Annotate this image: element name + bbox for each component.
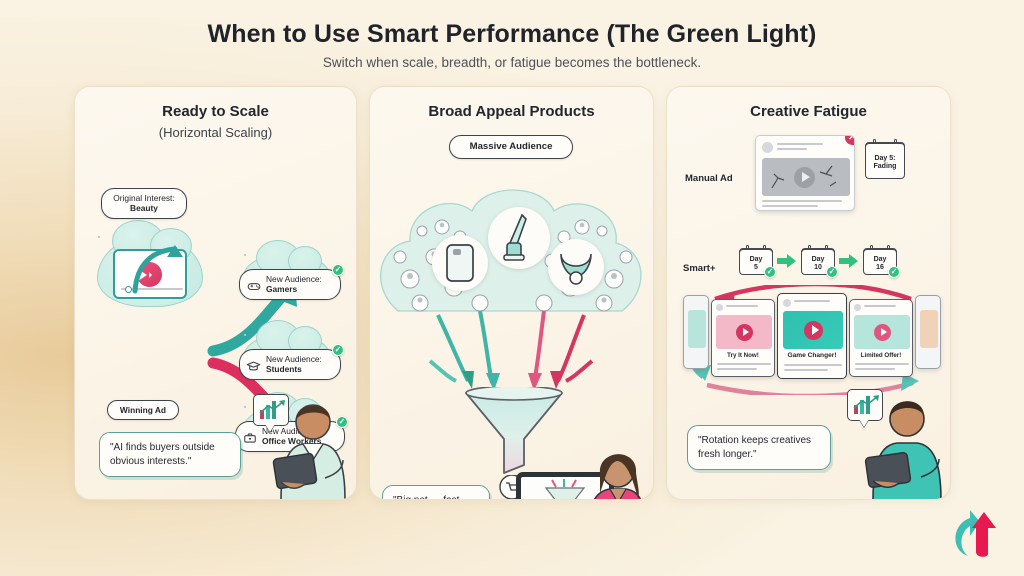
rotation-card-try-it-now[interactable]: Try It Now! (711, 299, 775, 377)
check-icon: ✓ (332, 344, 344, 356)
graduation-cap-icon (246, 359, 261, 374)
manual-ad-label: Manual Ad (685, 173, 733, 184)
panel3-heading: Creative Fatigue (667, 103, 950, 120)
check-icon: ✓ (826, 266, 838, 278)
panel2-heading: Broad Appeal Products (370, 103, 653, 120)
rotation-card-2-caption: Game Changer! (778, 352, 846, 359)
neck-massager-icon (557, 248, 595, 286)
massive-audience-text: Massive Audience (470, 141, 553, 152)
winning-ad-caption-text: Winning Ad (120, 405, 166, 415)
manual-ad-calendar: Day 5: Fading (865, 139, 905, 179)
audience-1-value: Gamers (266, 284, 331, 294)
rotation-card-limited-offer[interactable]: Limited Offer! (849, 299, 913, 377)
chart-bubble (847, 389, 883, 421)
original-interest-label: Original Interest: (113, 193, 174, 203)
page-subtitle: Switch when scale, breadth, or fatigue b… (0, 55, 1024, 70)
panel-ready-to-scale: Ready to Scale (Horizontal Scaling) Orig… (74, 86, 357, 500)
smart-cal-2-line1: Day (802, 256, 834, 264)
massive-audience-pill: Massive Audience (449, 135, 573, 159)
panel1-quote: "AI finds buyers outside obvious interes… (99, 432, 241, 477)
manual-ad-card: ✕ (755, 135, 855, 211)
rotation-card-right-edge (915, 295, 941, 369)
page-title: When to Use Smart Performance (The Green… (0, 20, 1024, 49)
rotation-card-left-edge (683, 295, 709, 369)
chart-bubble (253, 394, 289, 426)
check-icon: ✓ (332, 264, 344, 276)
panel-creative-fatigue: Creative Fatigue Manual Ad ✕ (666, 86, 951, 500)
check-icon: ✓ (764, 266, 776, 278)
smart-calendar-day5: Day 5 ✓ (739, 245, 773, 275)
vacuum-icon (500, 213, 538, 263)
smart-cal-1-line1: Day (740, 256, 772, 264)
panel-broad-appeal: Broad Appeal Products Massive Audience (369, 86, 654, 500)
smart-calendar-day16: Day 16 ✓ (863, 245, 897, 275)
manual-calendar-line1: Day 5: (866, 155, 904, 163)
audience-2-value: Students (266, 364, 331, 374)
smart-cal-3-line1: Day (864, 256, 896, 264)
audience-card-gamers[interactable]: New Audience: Gamers ✓ (239, 269, 341, 300)
rotation-card-game-changer[interactable]: Game Changer! (777, 293, 847, 379)
rotation-card-3-caption: Limited Offer! (850, 352, 912, 359)
panel2-quote: "Big net → fast filtering → conversions.… (382, 485, 490, 500)
funnel-inflow-arrows (424, 309, 604, 399)
manual-calendar-line2: Fading (866, 163, 904, 171)
winning-ad-caption: Winning Ad (107, 400, 179, 420)
panel3-quote: "Rotation keeps creatives fresh longer." (687, 425, 831, 470)
dual-arrow-logo (950, 506, 1006, 562)
persona-strategist (843, 379, 947, 500)
rotation-card-1-caption: Try It Now! (712, 352, 774, 359)
product-massager (548, 239, 604, 295)
panel1-subheading: (Horizontal Scaling) (75, 125, 356, 140)
original-interest: Original Interest: Beauty (101, 188, 187, 219)
original-interest-value: Beauty (111, 203, 177, 213)
x-badge-icon: ✕ (844, 135, 855, 146)
funnel-graphic (462, 387, 566, 475)
persona-analyst (251, 382, 351, 500)
panel1-heading: Ready to Scale (75, 103, 356, 120)
smart-calendar-day10: Day 10 ✓ (801, 245, 835, 275)
smartphone-icon (445, 243, 475, 283)
arrow-right-icon (839, 253, 859, 269)
arrow-right-icon (777, 253, 797, 269)
smart-plus-label: Smart+ (683, 263, 715, 274)
product-vacuum (488, 207, 550, 269)
product-smartphone (432, 235, 488, 291)
audience-card-students[interactable]: New Audience: Students ✓ (239, 349, 341, 380)
growth-arrow-icon (127, 239, 187, 299)
gamepad-icon (247, 279, 261, 293)
audience-1-label: New Audience: (266, 274, 322, 284)
audience-2-label: New Audience: (266, 354, 322, 364)
slide-canvas: When to Use Smart Performance (The Green… (0, 0, 1024, 576)
persona-marketer (576, 439, 654, 500)
check-icon: ✓ (888, 266, 900, 278)
